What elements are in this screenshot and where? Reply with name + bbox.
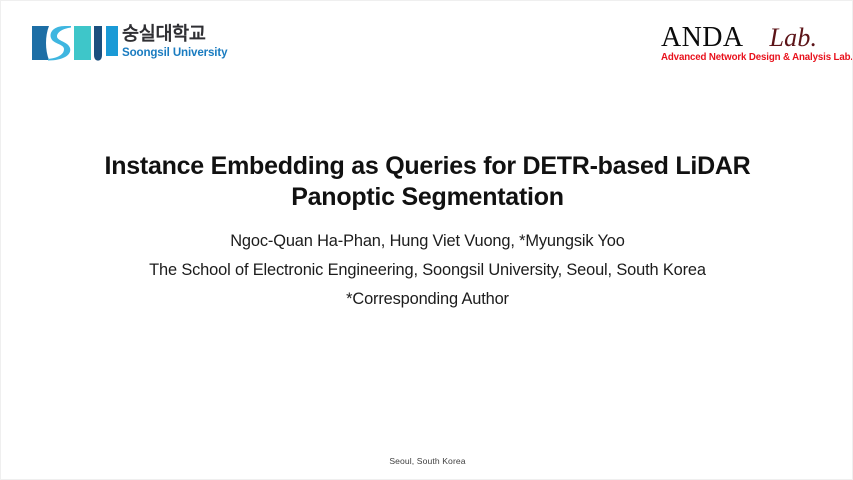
slide-footer: Seoul, South Korea <box>1 451 853 469</box>
anda-lab-logo: ANDALab. Advanced Network Design & Analy… <box>661 23 837 67</box>
title-block: Instance Embedding as Queries for DETR-b… <box>1 151 853 213</box>
soongsil-university-wordmark: 숭실대학교 Soongsil University <box>122 24 242 60</box>
footer-location: Seoul, South Korea <box>389 456 465 466</box>
page-title: Instance Embedding as Queries for DETR-b… <box>1 151 853 213</box>
anda-word: ANDA <box>661 22 743 53</box>
soongsil-university-emblem-icon <box>30 24 118 62</box>
authors-block: Ngoc-Quan Ha-Phan, Hung Viet Vuong, *Myu… <box>1 227 853 314</box>
soongsil-university-logo: 숭실대학교 Soongsil University <box>30 24 240 66</box>
anda-lab-wordmark: ANDALab. <box>661 23 837 53</box>
soongsil-english-name: Soongsil University <box>122 46 242 60</box>
presentation-title-slide: 숭실대학교 Soongsil University ANDALab. Advan… <box>0 0 853 480</box>
soongsil-korean-name: 숭실대학교 <box>122 24 242 45</box>
anda-lab-word: Lab. <box>769 23 817 52</box>
author-names: Ngoc-Quan Ha-Phan, Hung Viet Vuong, *Myu… <box>1 227 853 256</box>
corresponding-author-note: *Corresponding Author <box>1 285 853 314</box>
author-affiliation: The School of Electronic Engineering, So… <box>1 256 853 285</box>
anda-lab-tagline: Advanced Network Design & Analysis Lab. <box>661 52 837 64</box>
